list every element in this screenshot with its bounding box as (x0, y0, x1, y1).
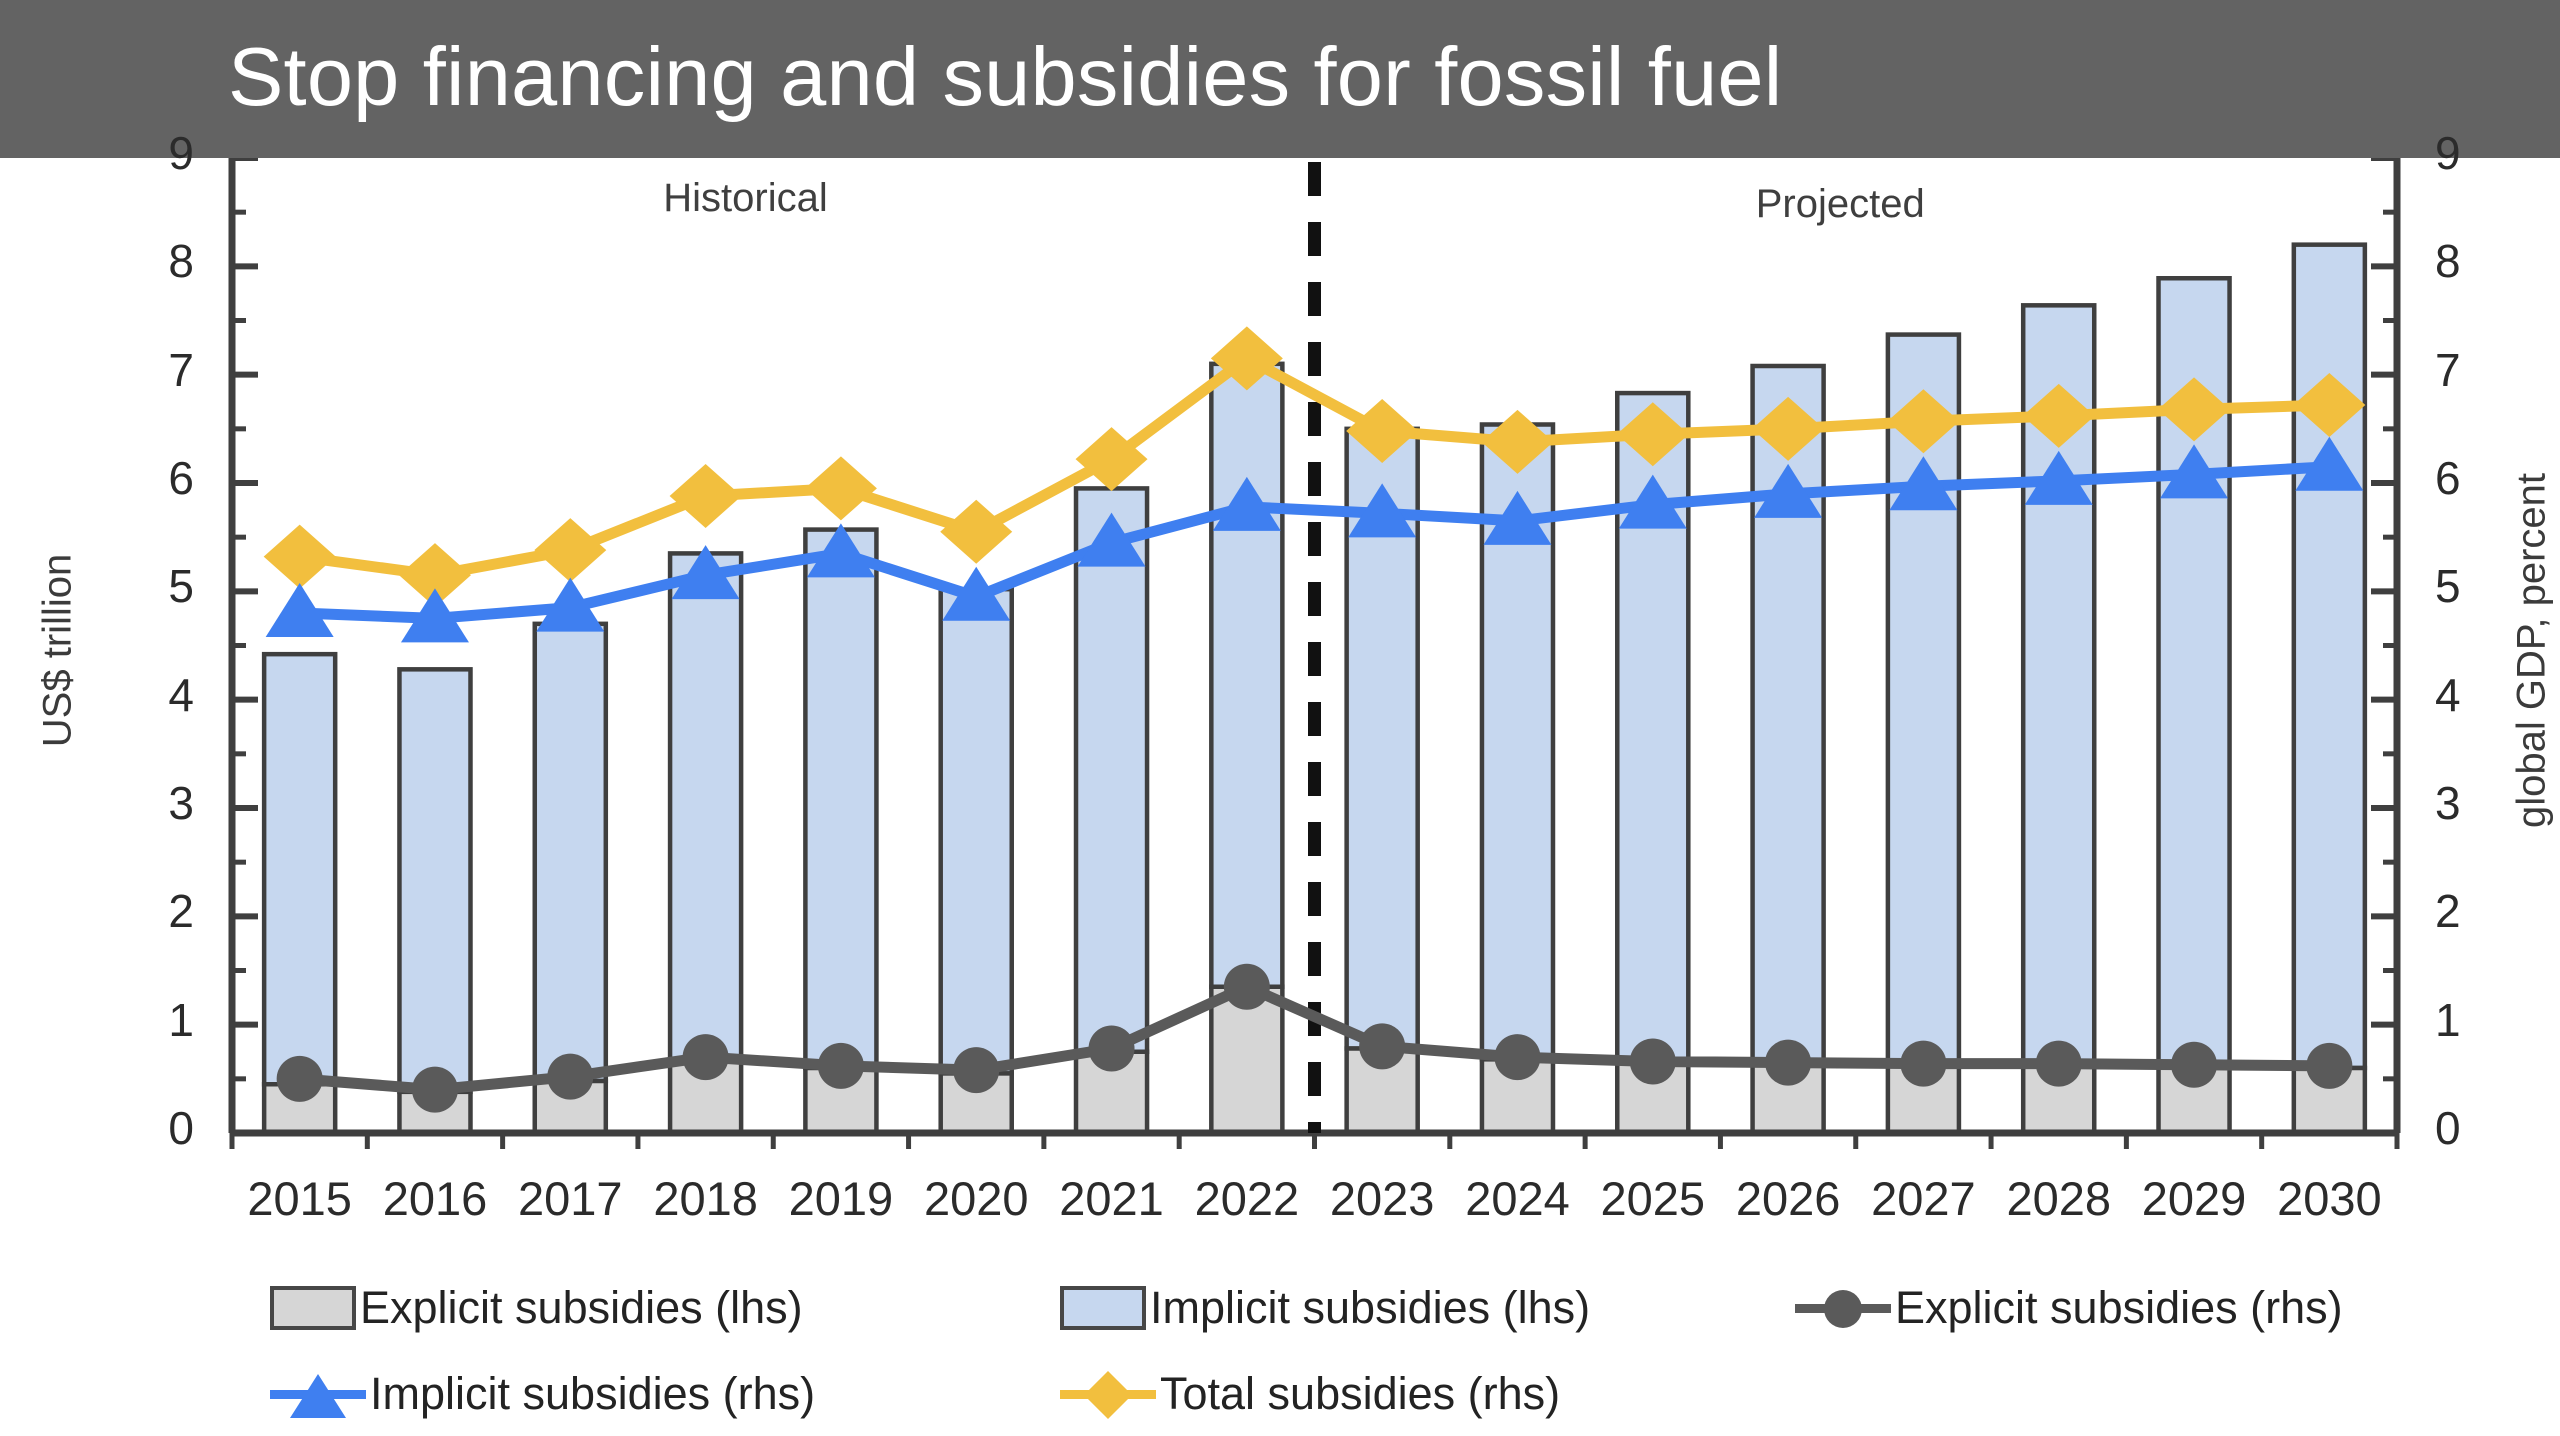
legend-label-explicit-subsidies-lhs: Explicit subsidies (lhs) (360, 1282, 803, 1334)
explicit-rhs-marker-2015 (277, 1056, 323, 1102)
explicit-rhs-marker-2028 (2036, 1041, 2082, 1087)
total-rhs-marker-2017 (534, 518, 606, 582)
legend-label-total-subsidies-rhs: Total subsidies (rhs) (1160, 1368, 1560, 1420)
left-ytick-1: 1 (114, 993, 194, 1047)
legend-item-explicit-subsidies-rhs[interactable]: Explicit subsidies (rhs) (1795, 1282, 2343, 1334)
right-ytick-4: 4 (2435, 668, 2515, 722)
legend-item-explicit-subsidies-lhs[interactable]: Explicit subsidies (lhs) (270, 1282, 803, 1334)
title-banner: Stop financing and subsidies for fossil … (0, 0, 2560, 158)
total-rhs-marker-2015 (264, 525, 336, 589)
left-ytick-6: 6 (114, 451, 194, 505)
left-ytick-8: 8 (114, 234, 194, 288)
explicit-rhs-marker-2029 (2171, 1042, 2217, 1088)
total-rhs-marker-2020 (940, 500, 1012, 564)
explicit-rhs-marker-2030 (2306, 1043, 2352, 1089)
left-ytick-3: 3 (114, 776, 194, 830)
explicit-rhs-marker-2026 (1765, 1040, 1811, 1086)
legend-label-explicit-subsidies-rhs: Explicit subsidies (rhs) (1895, 1282, 2343, 1334)
right-ytick-0: 0 (2435, 1101, 2515, 1155)
legend-swatch-explicit-subsidies-lhs (270, 1286, 356, 1330)
legend-label-implicit-subsidies-rhs: Implicit subsidies (rhs) (370, 1368, 815, 1420)
explicit-rhs-marker-2022 (1224, 964, 1270, 1010)
right-ytick-8: 8 (2435, 234, 2515, 288)
bar-implicit-2030 (2294, 245, 2365, 1068)
right-ytick-7: 7 (2435, 343, 2515, 397)
legend-label-implicit-subsidies-lhs: Implicit subsidies (lhs) (1150, 1282, 1590, 1334)
explicit-rhs-marker-2025 (1630, 1039, 1676, 1085)
page-title: Stop financing and subsidies for fossil … (228, 22, 1782, 132)
legend-item-implicit-subsidies-lhs[interactable]: Implicit subsidies (lhs) (1060, 1282, 1590, 1334)
chart-legend: Explicit subsidies (lhs)Implicit subsidi… (0, 1264, 2560, 1436)
legend-diamond-icon (1084, 1371, 1132, 1419)
right-ytick-2: 2 (2435, 884, 2515, 938)
explicit-rhs-marker-2019 (818, 1043, 864, 1089)
explicit-rhs-marker-2018 (683, 1034, 729, 1080)
left-ytick-4: 4 (114, 668, 194, 722)
chart-container: US$ trillion global GDP, percent Histori… (0, 158, 2560, 1436)
legend-swatch-explicit-subsidies-rhs (1795, 1286, 1891, 1330)
right-ytick-6: 6 (2435, 451, 2515, 505)
legend-circle-icon (1824, 1290, 1862, 1328)
explicit-rhs-marker-2016 (412, 1067, 458, 1113)
legend-item-implicit-subsidies-rhs[interactable]: Implicit subsidies (rhs) (270, 1368, 815, 1420)
left-ytick-9: 9 (114, 126, 194, 180)
bar-implicit-2018 (670, 553, 741, 1059)
bar-implicit-2017 (535, 624, 606, 1081)
right-ytick-1: 1 (2435, 993, 2515, 1047)
bar-implicit-2019 (805, 530, 876, 1068)
explicit-rhs-marker-2021 (1089, 1026, 1135, 1072)
bar-implicit-2016 (399, 669, 470, 1092)
left-ytick-5: 5 (114, 559, 194, 613)
legend-triangle-icon (290, 1374, 346, 1418)
left-ytick-7: 7 (114, 343, 194, 397)
bar-implicit-2015 (264, 654, 335, 1084)
left-ytick-0: 0 (114, 1101, 194, 1155)
legend-swatch-implicit-subsidies-lhs (1060, 1286, 1146, 1330)
explicit-rhs-marker-2024 (1494, 1034, 1540, 1080)
bar-implicit-2021 (1076, 488, 1147, 1051)
xtick-2030: 2030 (2249, 1171, 2409, 1226)
legend-swatch-implicit-subsidies-rhs (270, 1372, 366, 1416)
explicit-rhs-marker-2020 (953, 1047, 999, 1093)
right-ytick-3: 3 (2435, 776, 2515, 830)
explicit-rhs-marker-2023 (1359, 1023, 1405, 1069)
explicit-rhs-marker-2027 (1900, 1041, 1946, 1087)
right-ytick-5: 5 (2435, 559, 2515, 613)
explicit-rhs-marker-2017 (547, 1054, 593, 1100)
legend-swatch-total-subsidies-rhs (1060, 1372, 1156, 1416)
bar-implicit-2020 (941, 589, 1012, 1073)
legend-item-total-subsidies-rhs[interactable]: Total subsidies (rhs) (1060, 1368, 1560, 1420)
chart-plot (0, 158, 2560, 1436)
bar-implicit-2022 (1211, 364, 1282, 987)
left-ytick-2: 2 (114, 884, 194, 938)
total-rhs-marker-2018 (670, 464, 742, 528)
right-ytick-9: 9 (2435, 126, 2515, 180)
total-rhs-marker-2019 (805, 456, 877, 520)
